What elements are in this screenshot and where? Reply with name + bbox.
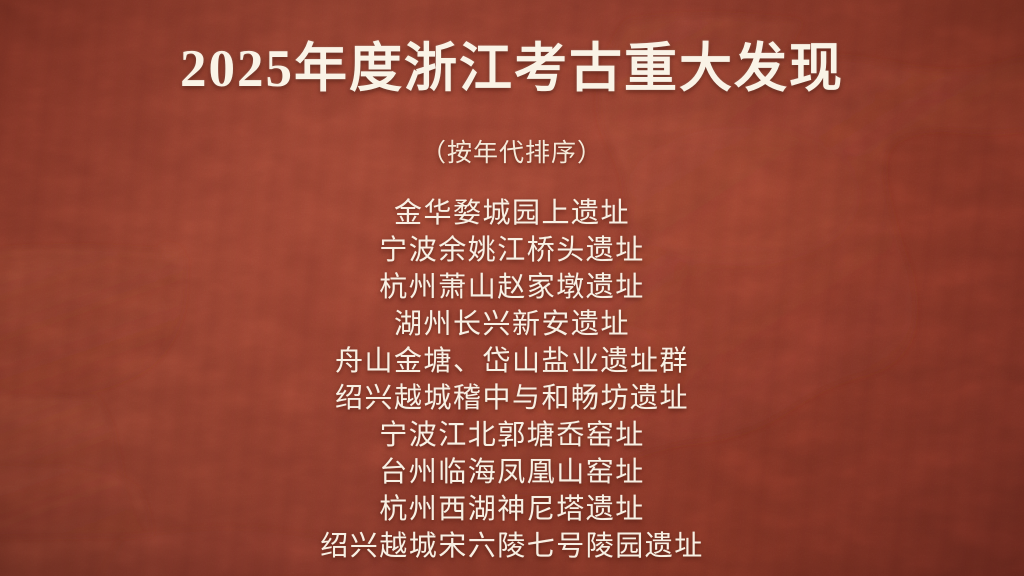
discovery-list-item: 宁波江北郭塘岙窑址	[379, 417, 645, 454]
slide-content: 2025年度浙江考古重大发现 （按年代排序） 金华婺城园上遗址宁波余姚江桥头遗址…	[0, 0, 1024, 576]
slide-title: 2025年度浙江考古重大发现	[180, 42, 844, 98]
discovery-list-item: 杭州萧山赵家墩遗址	[379, 269, 645, 306]
discovery-list-item: 宁波余姚江桥头遗址	[379, 232, 645, 269]
discovery-list-item: 绍兴越城稽中与和畅坊遗址	[335, 380, 689, 417]
discovery-list-item: 台州临海凤凰山窑址	[379, 454, 645, 491]
presentation-slide: 2025年度浙江考古重大发现 （按年代排序） 金华婺城园上遗址宁波余姚江桥头遗址…	[0, 0, 1024, 576]
discovery-list: 金华婺城园上遗址宁波余姚江桥头遗址杭州萧山赵家墩遗址湖州长兴新安遗址舟山金塘、岱…	[320, 195, 704, 565]
slide-subtitle: （按年代排序）	[421, 139, 603, 169]
discovery-list-item: 绍兴越城宋六陵七号陵园遗址	[320, 528, 704, 565]
discovery-list-item: 湖州长兴新安遗址	[394, 306, 630, 343]
discovery-list-item: 金华婺城园上遗址	[394, 195, 630, 232]
discovery-list-item: 杭州西湖神尼塔遗址	[379, 491, 645, 528]
discovery-list-item: 舟山金塘、岱山盐业遗址群	[335, 343, 689, 380]
